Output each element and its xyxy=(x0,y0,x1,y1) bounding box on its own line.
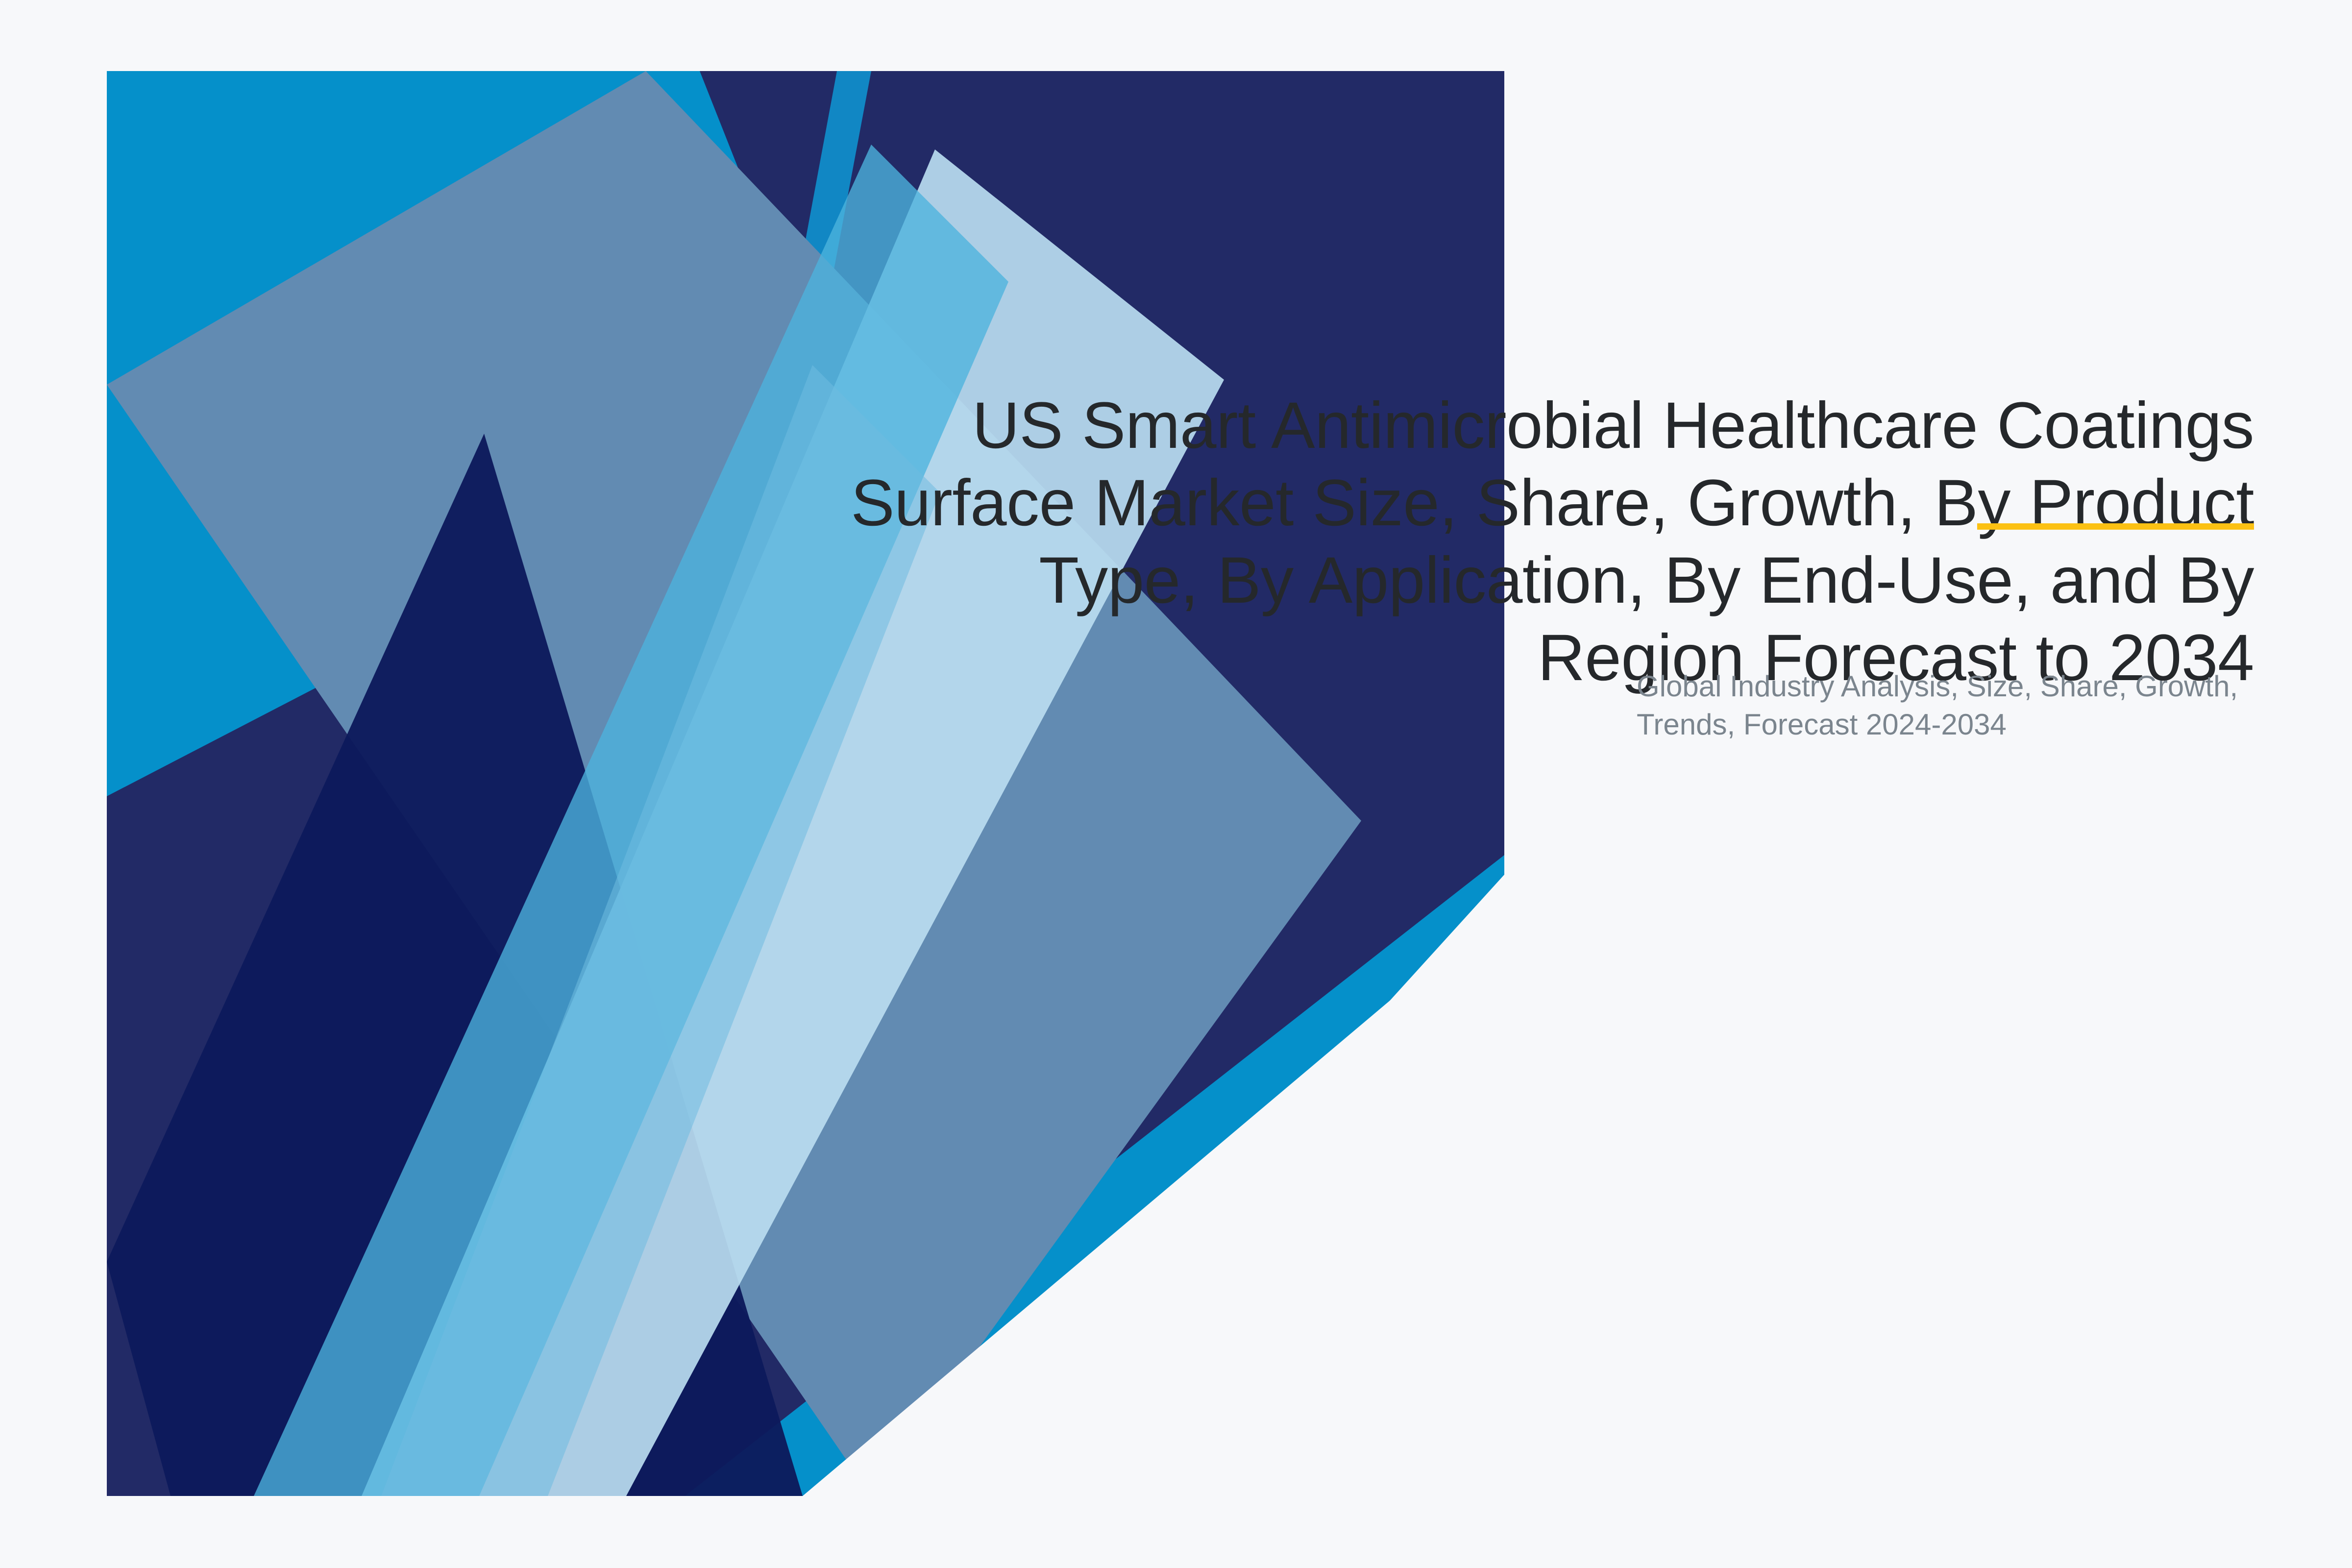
market-report-banner: US Smart Antimicrobial Healthcare Coatin… xyxy=(0,0,2352,1568)
title-block: US Smart Antimicrobial Healthcare Coatin… xyxy=(833,387,2254,697)
yellow-underline-accent xyxy=(1977,523,2254,530)
page-subtitle: Global Industry Analysis, Size, Share, G… xyxy=(1637,667,2259,744)
abstract-geometric-polygon-graphic xyxy=(107,71,1504,1496)
page-title: US Smart Antimicrobial Healthcare Coatin… xyxy=(833,387,2254,697)
